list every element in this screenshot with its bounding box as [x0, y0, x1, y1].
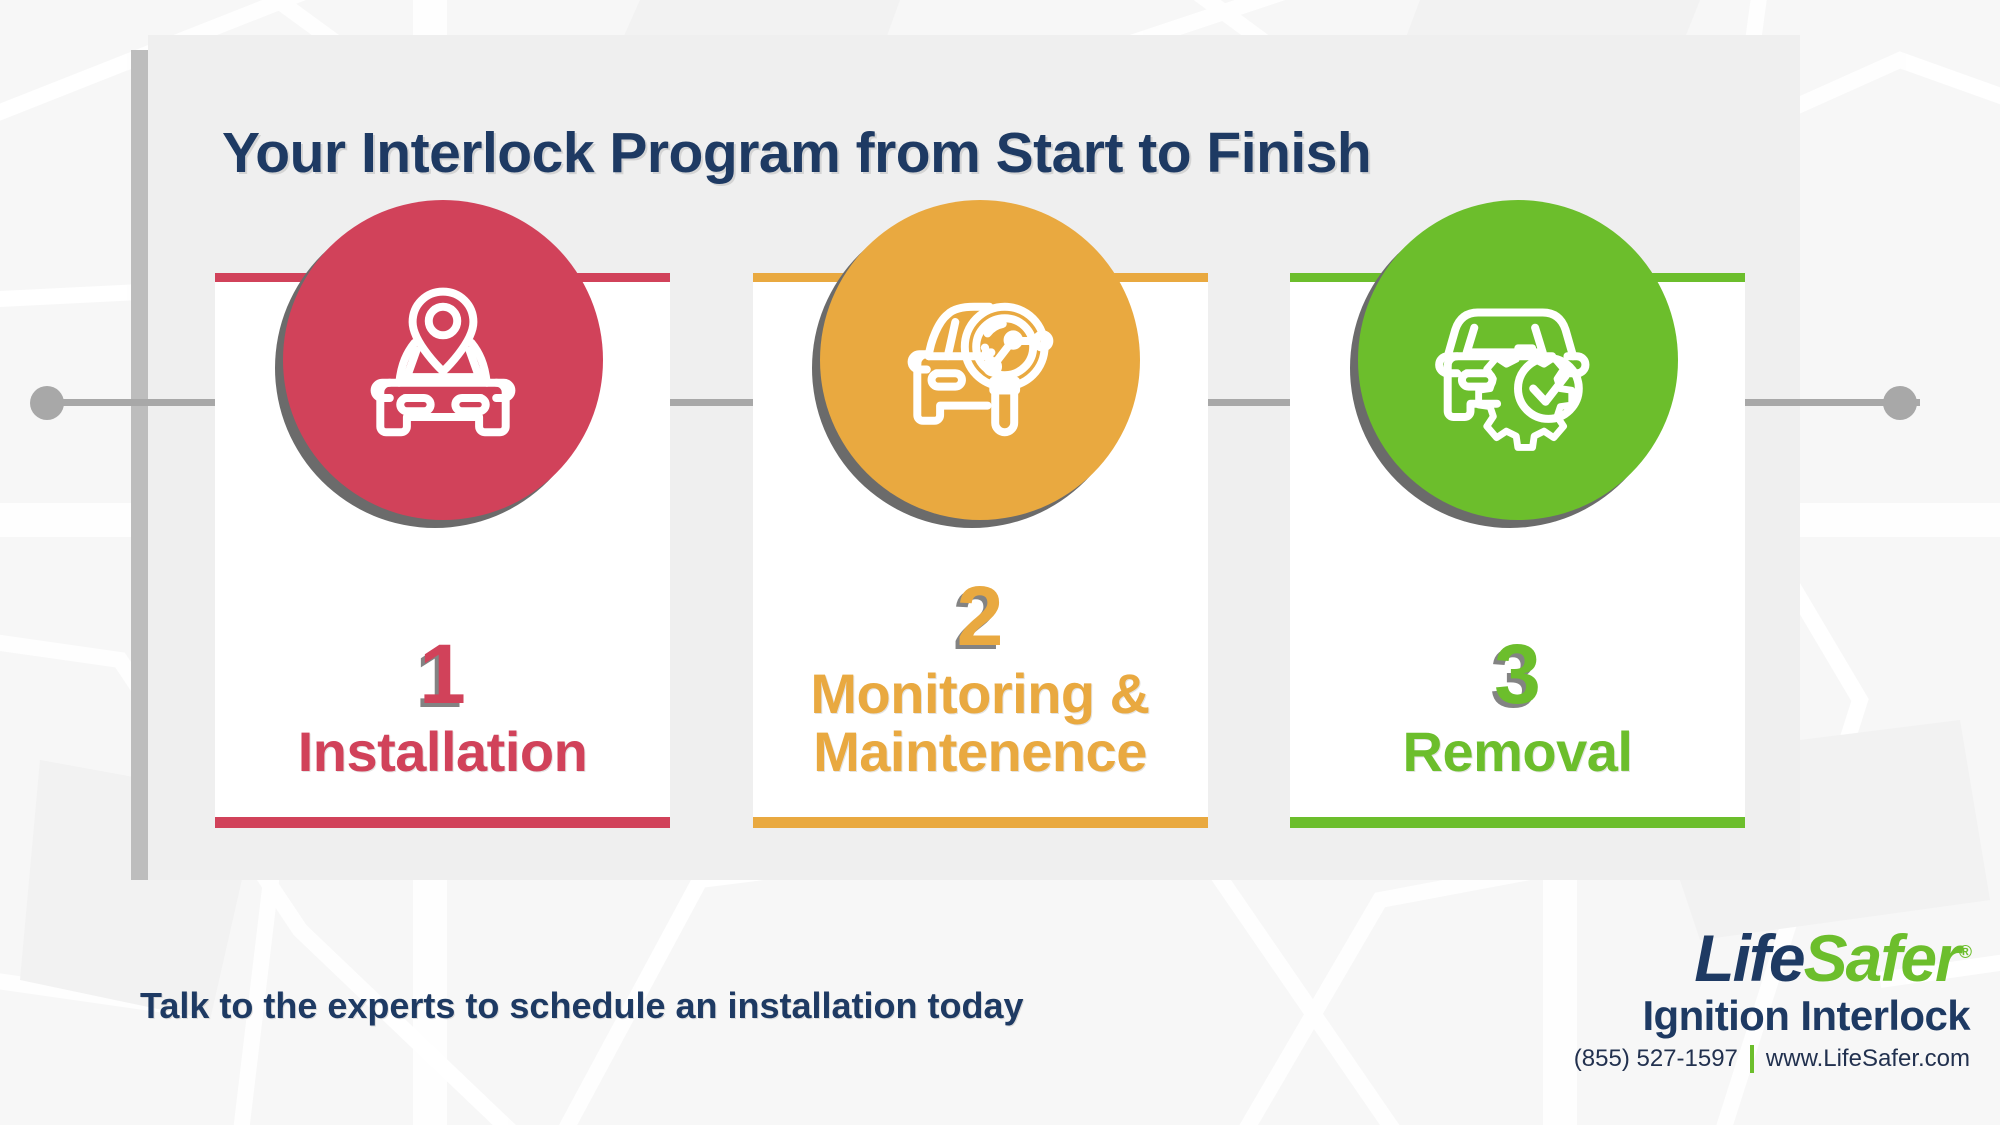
car-location-pin-icon — [283, 200, 603, 520]
step-card-removal: 3 Removal — [1290, 273, 1745, 828]
step-number: 3 — [1494, 635, 1541, 715]
logo-tagline: Ignition Interlock — [1510, 993, 1970, 1039]
step-accent-bottom — [753, 817, 1208, 828]
logo-contact-row: (855) 527-1597 www.LifeSafer.com — [1510, 1045, 1970, 1073]
step-accent-bottom — [215, 817, 670, 828]
step-label: Removal — [1403, 723, 1633, 781]
step-card-body: 2 Monitoring & Maintenence — [753, 282, 1208, 817]
steps-row: 1 Installation — [215, 273, 1745, 828]
logo-wordmark: LifeSafer® — [1510, 925, 1970, 991]
car-magnifier-gauge-icon — [820, 200, 1140, 520]
cta-text: Talk to the experts to schedule an insta… — [140, 985, 1024, 1027]
step-icon-badge — [820, 200, 1140, 520]
registered-trademark-icon: ® — [1959, 942, 1970, 962]
logo-word-life: Life — [1694, 921, 1803, 995]
car-gear-check-icon — [1358, 200, 1678, 520]
timeline-endpoint-dot-left — [30, 386, 64, 420]
contact-divider — [1750, 1045, 1754, 1073]
step-label-line: Maintenence — [810, 723, 1149, 781]
step-icon-badge — [283, 200, 603, 520]
brand-logo: LifeSafer® Ignition Interlock (855) 527-… — [1510, 925, 1970, 1073]
step-label: Monitoring & Maintenence — [810, 665, 1149, 781]
frame-bracket-vertical — [131, 50, 148, 880]
step-card-monitoring-maintenance: 2 Monitoring & Maintenence — [753, 273, 1208, 828]
timeline-endpoint-dot-right — [1883, 386, 1917, 420]
infographic-canvas: Your Interlock Program from Start to Fin… — [0, 0, 2000, 1125]
step-label-line: Monitoring & — [810, 665, 1149, 723]
step-number: 1 — [419, 635, 466, 715]
step-accent-bottom — [1290, 817, 1745, 828]
step-number: 2 — [957, 577, 1004, 657]
page-title: Your Interlock Program from Start to Fin… — [222, 120, 1742, 186]
step-card-body: 3 Removal — [1290, 282, 1745, 817]
step-card-body: 1 Installation — [215, 282, 670, 817]
step-icon-badge — [1358, 200, 1678, 520]
phone-number[interactable]: (855) 527-1597 — [1574, 1045, 1738, 1073]
step-label: Installation — [298, 723, 588, 781]
step-card-installation: 1 Installation — [215, 273, 670, 828]
logo-word-safer: Safer — [1804, 921, 1959, 995]
website-url[interactable]: www.LifeSafer.com — [1766, 1045, 1970, 1073]
